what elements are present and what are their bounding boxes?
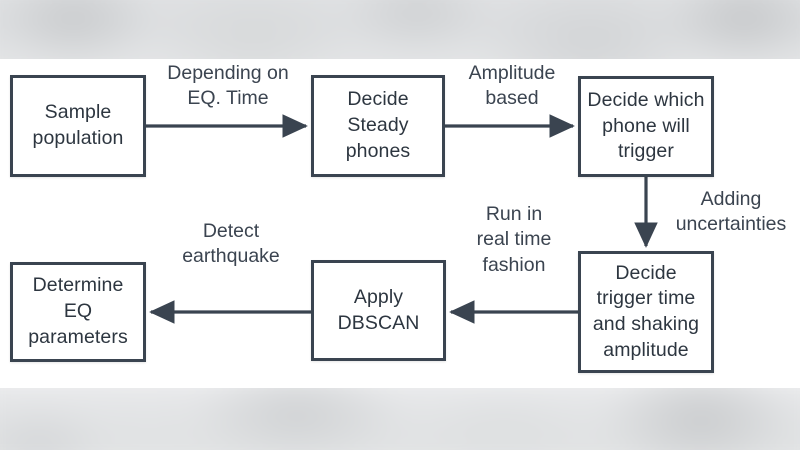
top-blur-backdrop bbox=[0, 0, 800, 60]
node-decide-which-phone-label: Decide which phone will trigger bbox=[581, 88, 711, 165]
edge-label-run-in-real-time-fashion: Run in real time fashion bbox=[455, 202, 573, 278]
edge-label-adding-uncertainties: Adding uncertainties bbox=[660, 187, 800, 238]
edge-label-depending-on-eq-time: Depending on EQ. Time bbox=[152, 61, 304, 112]
node-decide-steady-phones-label: Decide Steady phones bbox=[314, 87, 442, 164]
edge-label-amplitude-based: Amplitude based bbox=[452, 61, 572, 112]
node-determine-eq-parameters[interactable]: Determine EQ parameters bbox=[10, 262, 146, 362]
bottom-letterbox-band bbox=[0, 388, 800, 450]
top-letterbox-band bbox=[0, 0, 800, 60]
node-apply-dbscan-label: Apply DBSCAN bbox=[314, 285, 443, 336]
edge-label-detect-earthquake: Detect earthquake bbox=[155, 219, 307, 270]
bottom-blur-backdrop bbox=[0, 388, 800, 450]
node-sample-population-label: Sample population bbox=[13, 100, 143, 151]
node-decide-steady-phones[interactable]: Decide Steady phones bbox=[311, 75, 445, 177]
node-decide-which-phone[interactable]: Decide which phone will trigger bbox=[578, 76, 714, 177]
node-sample-population[interactable]: Sample population bbox=[10, 75, 146, 177]
node-decide-trigger-time-label: Decide trigger time and shaking amplitud… bbox=[581, 261, 711, 364]
node-decide-trigger-time[interactable]: Decide trigger time and shaking amplitud… bbox=[578, 251, 714, 373]
node-determine-eq-parameters-label: Determine EQ parameters bbox=[13, 273, 143, 350]
diagram-canvas: Sample population Decide Steady phones D… bbox=[0, 0, 800, 450]
flowchart-area: Sample population Decide Steady phones D… bbox=[0, 59, 800, 388]
node-apply-dbscan[interactable]: Apply DBSCAN bbox=[311, 260, 446, 361]
